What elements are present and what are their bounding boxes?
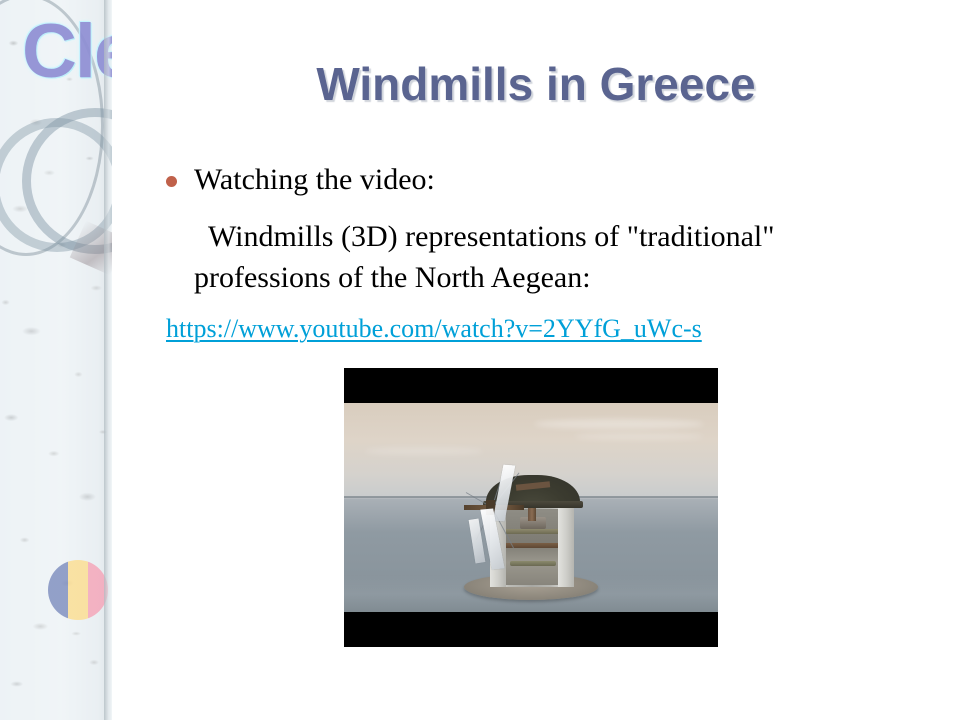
page-title: Windmills in Greece xyxy=(112,56,960,112)
body-text-block: Watching the video: Windmills (3D) repre… xyxy=(160,160,860,298)
paragraph-line-1: Windmills (3D) representations of "tradi… xyxy=(160,216,860,257)
cloud-streak xyxy=(574,433,704,440)
bullet-list-item: Watching the video: xyxy=(160,160,860,200)
sidebar-decoration-word: Cle xyxy=(22,14,112,90)
bullet-dot-icon xyxy=(166,176,177,187)
windmill-beam-upper xyxy=(502,529,564,534)
flag-circle-icon xyxy=(48,560,108,620)
sidebar-decoration: Cle xyxy=(0,0,112,720)
cloud-streak xyxy=(364,447,484,455)
windmill-3d-model xyxy=(462,469,612,604)
sidebar-edge-divider xyxy=(104,0,112,720)
video-scene xyxy=(344,403,718,612)
bullet-item-label: Watching the video: xyxy=(194,163,435,196)
youtube-video-link[interactable]: https://www.youtube.com/watch?v=2YYfG_uW… xyxy=(166,312,702,346)
windmill-pillar-right xyxy=(558,505,574,587)
paragraph-line-2: professions of the North Aegean: xyxy=(160,257,860,298)
cloud-streak xyxy=(534,419,704,429)
slide-canvas: Cle Windmills in Greece Watching the vid… xyxy=(0,0,960,720)
windmill-millstone-platform xyxy=(510,561,556,566)
video-thumbnail[interactable] xyxy=(344,368,718,647)
